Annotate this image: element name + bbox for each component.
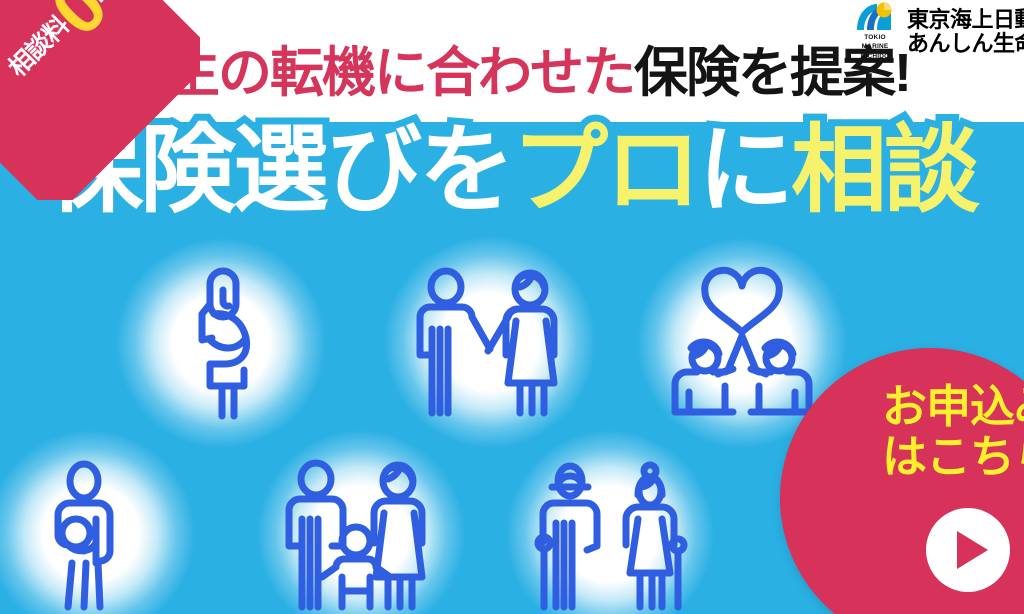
- couple-holding-hands-icon: [362, 236, 618, 448]
- logo-en-line2: NICHIDO: [851, 52, 899, 61]
- play-button[interactable]: [926, 508, 1010, 592]
- brand-logo: TOKIO MARINE NICHIDO 東京海上日動 あんしん生命: [851, 2, 1024, 61]
- play-triangle-icon: [957, 531, 988, 569]
- apply-cta-text[interactable]: お申込み はこちら: [882, 382, 1024, 483]
- apply-cta-line2: はこちら: [882, 432, 1024, 482]
- family-of-three-icon: [236, 430, 486, 614]
- pregnant-woman-icon: [96, 238, 346, 448]
- apply-cta-line1: お申込み: [882, 382, 1024, 432]
- title-part3: に: [698, 117, 791, 224]
- logo-en-text: TOKIO MARINE NICHIDO: [851, 33, 899, 61]
- logo-jp-line2: あんしん生命: [907, 32, 1024, 56]
- logo-swoosh-icon: [853, 2, 897, 32]
- tokio-marine-logo-mark: TOKIO MARINE NICHIDO: [851, 2, 899, 61]
- elderly-couple-icon: [486, 430, 734, 614]
- free-consultation-ribbon: 相談料0円: [0, 0, 200, 200]
- logo-jp-text: 東京海上日動 あんしん生命: [907, 8, 1024, 56]
- parent-with-baby-icon: [0, 430, 216, 614]
- logo-jp-line1: 東京海上日動: [907, 8, 1024, 32]
- title-part2: プロ: [512, 117, 698, 224]
- title-part4: 相談: [791, 117, 977, 224]
- logo-en-line1: TOKIO MARINE: [851, 33, 899, 52]
- insurance-banner: 相談料0円 TOKIO MARINE NICHIDO 東京海上日動 あんしん生命…: [0, 0, 1024, 614]
